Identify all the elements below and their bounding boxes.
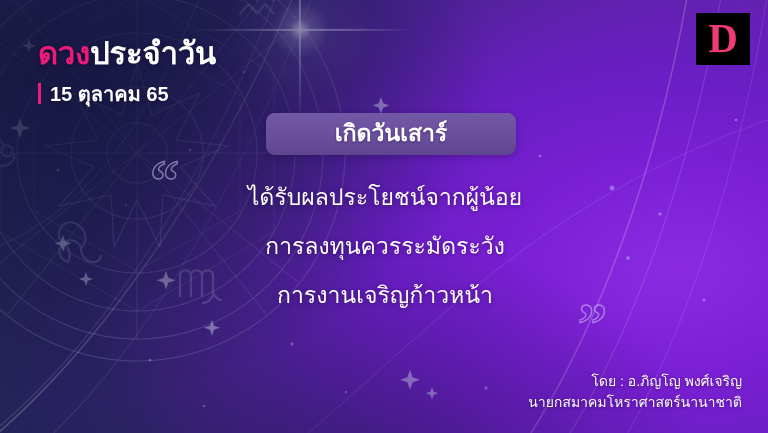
title-main-word: ประจำวัน — [90, 36, 216, 71]
forecast-list: ได้รับผลประโยชน์จากผู้น้อย การลงทุนควรระ… — [150, 186, 620, 307]
date-accent-bar — [38, 83, 41, 104]
forecast-line: ได้รับผลประโยชน์จากผู้น้อย — [150, 186, 620, 209]
horoscope-card: ดวงประจำวัน 15 ตุลาคม 65 เกิดวันเสาร์ “ … — [0, 0, 768, 433]
status-badge: เกิดวันเสาร์ — [266, 113, 516, 155]
card-content: ดวงประจำวัน 15 ตุลาคม 65 เกิดวันเสาร์ “ … — [0, 0, 768, 433]
date-label: 15 ตุลาคม 65 — [50, 78, 169, 110]
credit-author: โดย : อ.ภิญโญ พงศ์เจริญ — [528, 371, 742, 392]
logo-letter: D — [708, 18, 738, 59]
brand-logo[interactable]: D — [696, 13, 750, 65]
footer-credit: โดย : อ.ภิญโญ พงศ์เจริญ นายกสมาคมโหราศาส… — [528, 371, 742, 413]
title-accent-word: ดวง — [38, 36, 90, 71]
forecast-line: การงานเจริญก้าวหน้า — [150, 284, 620, 307]
title-block: ดวงประจำวัน 15 ตุลาคม 65 — [38, 38, 216, 110]
page-title: ดวงประจำวัน — [38, 38, 216, 71]
badge-label: เกิดวันเสาร์ — [335, 116, 448, 152]
credit-title: นายกสมาคมโหราศาสตร์นานาชาติ — [528, 392, 742, 413]
date-row: 15 ตุลาคม 65 — [38, 78, 216, 110]
forecast-line: การลงทุนควรระมัดระวัง — [150, 235, 620, 258]
